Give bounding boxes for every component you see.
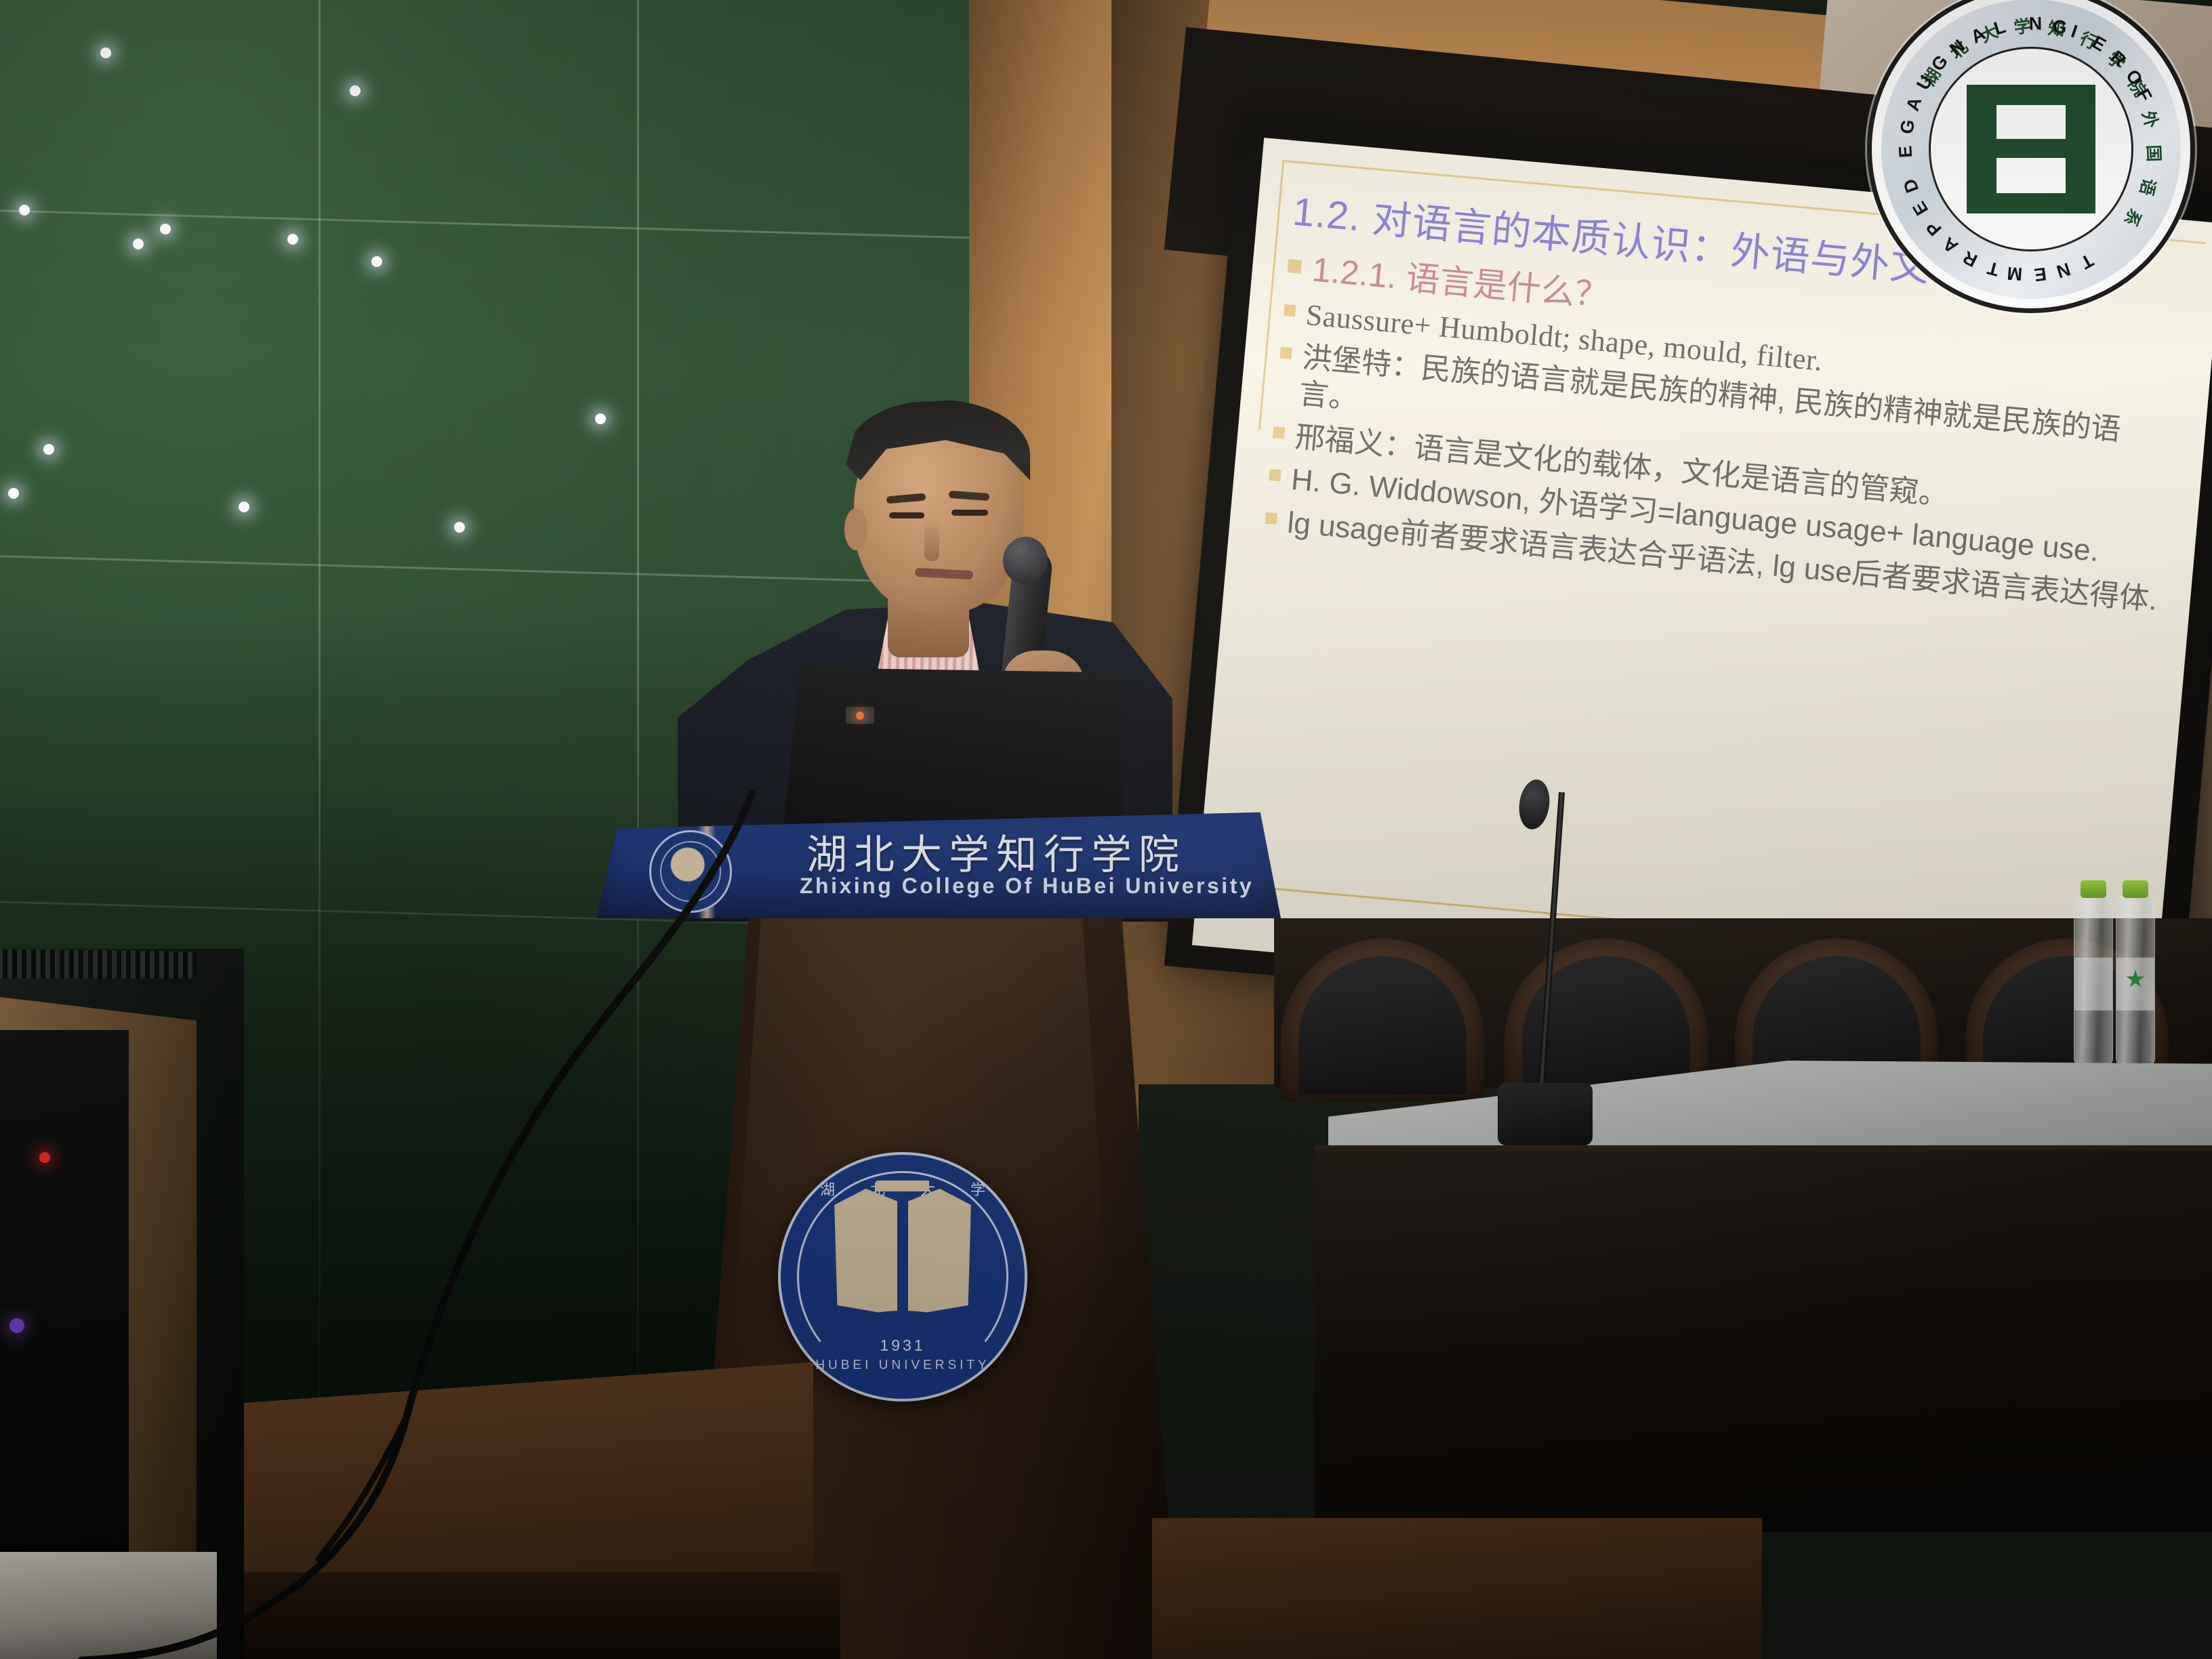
- ceiling-spot-reflection: [287, 234, 298, 245]
- eye-right: [951, 510, 988, 516]
- eye-left: [889, 512, 924, 518]
- podium-english-name: Zhixing College Of HuBei University: [800, 874, 1254, 899]
- ceiling-spot-reflection: [350, 85, 361, 96]
- ceiling-spot-reflection: [454, 522, 465, 533]
- bullet-square-icon: [1284, 304, 1296, 316]
- bullet-square-icon: [1279, 347, 1292, 359]
- bullet-square-icon: [1273, 426, 1285, 438]
- bottle-label: [2074, 958, 2112, 1010]
- logo-monogram-icon: [1967, 85, 2095, 213]
- bullet-square-icon: [1269, 469, 1281, 481]
- ceiling-spot-reflection: [371, 256, 382, 267]
- microphone-cable: [0, 779, 813, 1659]
- seal-crossbar: [876, 1181, 929, 1191]
- gooseneck-microphone-base[interactable]: [1498, 1083, 1593, 1145]
- bottle-label: [2116, 958, 2154, 1010]
- foreign-language-department-logo: 湖 北 大 学 知 行 学 院 外 国 语 系 F O R E I G N: [1867, 0, 2195, 313]
- ceiling-spot-reflection: [19, 205, 30, 216]
- ceiling-spot-reflection: [133, 239, 144, 249]
- ceiling-spot-reflection: [595, 413, 606, 424]
- laptop-computer[interactable]: [783, 668, 1122, 837]
- nose: [924, 519, 939, 561]
- bullet-square-icon: [1265, 512, 1277, 525]
- water-bottle[interactable]: [2074, 895, 2113, 1065]
- hubei-university-seal: 湖北大学 1931 HUBEI UNIVERSITY: [778, 1152, 1027, 1401]
- seal-year: 1931: [781, 1336, 1025, 1355]
- panel-table-front: [1315, 1152, 2212, 1532]
- ceiling-spot-reflection: [160, 224, 171, 234]
- ceiling-spot-reflection: [100, 47, 111, 58]
- bottle-cap-icon: [2081, 880, 2106, 898]
- ear: [844, 508, 867, 550]
- bottle-cap-icon: [2123, 880, 2148, 898]
- water-bottle[interactable]: [2116, 895, 2155, 1065]
- floor-right-area: [1152, 1518, 1762, 1659]
- ceiling-spot-reflection: [239, 501, 249, 512]
- ceiling-spot-reflection: [8, 488, 19, 499]
- laptop-power-led-icon: [856, 712, 864, 720]
- bullet-square-icon: [1288, 259, 1303, 274]
- podium-chinese-name: 湖北大学知行学院: [806, 822, 1186, 881]
- ceiling-spot-reflection: [43, 444, 54, 455]
- seal-english-text: HUBEI UNIVERSITY: [781, 1358, 1025, 1373]
- photograph-scene: 1.2. 对语言的本质认识：外语与外文？ 1.2.1. 语言是什么？ Sauss…: [0, 0, 2212, 1659]
- logo-inner-disc: [1929, 47, 2133, 251]
- logo-outer-ring: 湖 北 大 学 知 行 学 院 外 国 语 系 F O R E I G N: [1881, 0, 2181, 299]
- seal-spine: [897, 1175, 908, 1331]
